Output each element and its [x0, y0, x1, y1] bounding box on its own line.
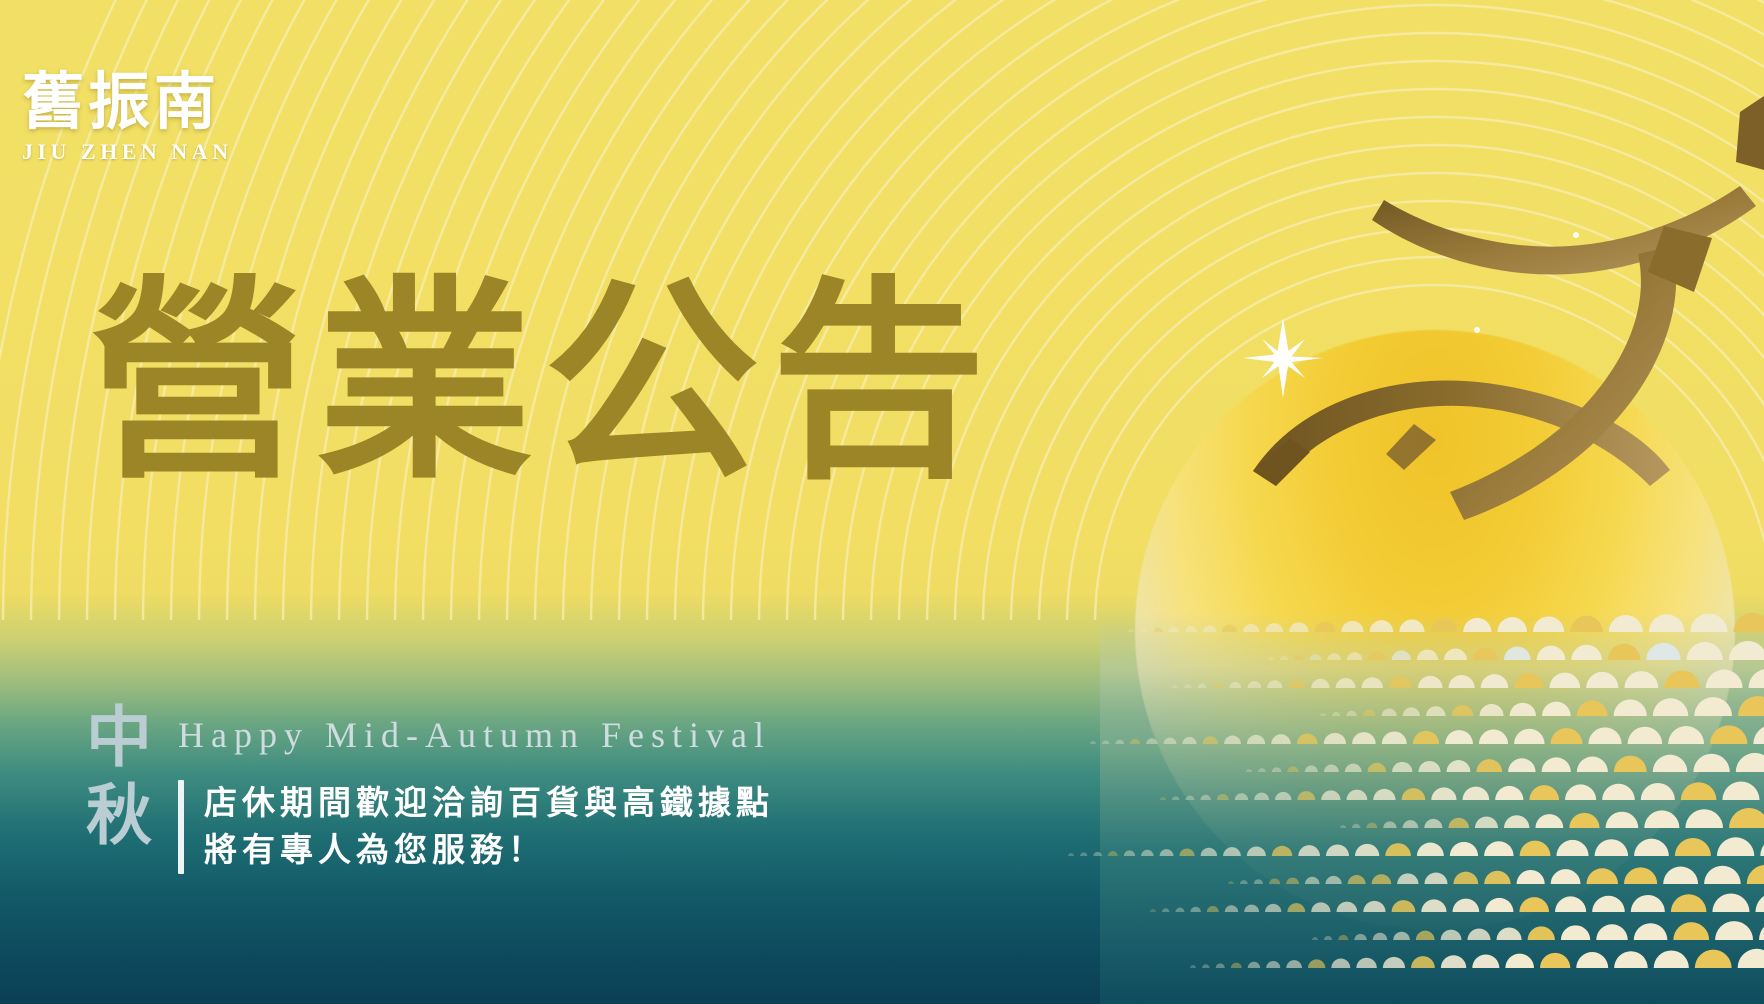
wave-dome: [1324, 936, 1332, 940]
wave-dome: [1542, 702, 1571, 716]
wave-dome: [1247, 681, 1261, 688]
wave-dome: [1715, 921, 1753, 940]
wave-dome: [1269, 878, 1280, 884]
wave-dome: [1231, 963, 1242, 968]
wave-dome: [1213, 683, 1224, 688]
notice-line-1: 店休期間歡迎洽詢百貨與高鐵據點: [204, 780, 774, 827]
wave-dome: [1312, 937, 1318, 940]
wave-dome: [1372, 874, 1392, 884]
wave-dome: [1729, 808, 1764, 828]
page-title: 營業公告: [90, 275, 998, 490]
wave-dome: [1258, 768, 1266, 772]
wave-dome: [1418, 676, 1443, 688]
wave-dome: [1305, 877, 1320, 884]
wave-dome: [1426, 706, 1446, 716]
wave-dome: [1331, 959, 1350, 968]
wave-dome: [1717, 837, 1754, 856]
wave-dome: [1588, 727, 1621, 744]
wave-dome: [1608, 644, 1640, 660]
wave-dome: [1668, 726, 1704, 744]
wave-dome: [1418, 761, 1440, 772]
wave-dome: [1413, 731, 1439, 744]
wave-dome: [1448, 818, 1469, 828]
wave-dome: [1203, 625, 1216, 632]
wave-dome: [1570, 616, 1603, 632]
wave-dome: [1540, 953, 1570, 968]
wave-dome: [1693, 754, 1729, 772]
wave-dome: [1247, 735, 1265, 744]
wave-dome: [1124, 850, 1135, 856]
wave-dome: [1224, 736, 1241, 744]
wave-dome: [1505, 954, 1534, 968]
wave-dome: [1577, 701, 1608, 716]
wave-dome: [1272, 767, 1282, 772]
wave-dome: [1370, 620, 1394, 632]
wave-dome: [1722, 781, 1759, 800]
wave-dome: [1347, 652, 1362, 660]
wave-dome: [1355, 844, 1379, 856]
wave-dome: [1352, 732, 1376, 744]
wave-dome: [1614, 699, 1647, 716]
wave-dome: [1472, 954, 1499, 968]
wave-dome: [1685, 809, 1723, 828]
wave-dome: [1393, 932, 1410, 940]
wave-dome: [1738, 696, 1764, 716]
wave-dome: [1341, 621, 1363, 632]
wave-dome: [1247, 846, 1266, 856]
wave-dome: [1160, 849, 1174, 856]
wave-dome: [1115, 740, 1124, 744]
wave-dome: [1644, 810, 1679, 828]
wave-dome: [1172, 796, 1179, 800]
wave-dome: [1326, 845, 1349, 857]
wave-dome: [1641, 783, 1675, 800]
wave-dome: [1402, 788, 1426, 800]
wave-dome: [1606, 812, 1639, 828]
wave-dome: [1602, 784, 1635, 800]
wave-dome: [1596, 924, 1628, 940]
wave-dome: [1403, 707, 1420, 716]
brand-logo: 舊振南 JIU ZHEN NAN: [22, 72, 262, 165]
wave-dome: [1646, 643, 1680, 660]
wave-dome: [1634, 839, 1669, 856]
wave-dome: [1254, 879, 1263, 884]
wave-dome: [1687, 642, 1723, 660]
wave-dome: [1203, 736, 1219, 744]
wave-dome: [1508, 758, 1535, 772]
wave-dome: [1288, 680, 1305, 688]
wave-dome: [1287, 766, 1298, 772]
wave-dome: [1392, 900, 1416, 912]
wave-dome: [1352, 824, 1360, 828]
wave-dome: [1736, 753, 1764, 772]
mid-autumn-char-2: 秋: [78, 778, 160, 856]
wave-dome: [1305, 765, 1318, 772]
wave-dome: [1345, 764, 1362, 772]
wave-dome: [1704, 866, 1741, 884]
wave-dome: [1080, 852, 1087, 856]
wave-dome: [1201, 848, 1217, 856]
wave-dome: [1569, 813, 1599, 828]
wave-dome: [1453, 899, 1480, 912]
wave-dome: [1160, 797, 1166, 800]
wave-dome: [1479, 704, 1503, 716]
wave-dome: [1311, 902, 1330, 912]
wave-dome: [1254, 793, 1269, 800]
wave-dome: [1347, 790, 1368, 800]
wave-dome: [1248, 962, 1260, 968]
wave-dome: [1108, 851, 1118, 856]
wave-dome: [1738, 949, 1764, 968]
wave-dome: [1403, 820, 1419, 828]
wave-dome: [1749, 669, 1764, 688]
wave-dome: [1346, 711, 1357, 716]
wave-dome: [1324, 733, 1346, 744]
wave-dome: [1321, 790, 1340, 800]
wave-dome: [1338, 935, 1348, 940]
wave-dome: [1308, 959, 1325, 968]
wave-dome: [1093, 852, 1102, 856]
wave-dome: [1504, 647, 1531, 660]
wave-dome: [1150, 909, 1156, 912]
wave-dome: [1441, 955, 1466, 968]
wave-dome: [1561, 925, 1590, 940]
wave-dome: [1179, 848, 1194, 856]
wave-dome: [1424, 819, 1442, 828]
wave-dome: [1555, 896, 1586, 912]
mid-autumn-char-1: 中: [78, 700, 160, 778]
wave-dome: [1399, 619, 1424, 632]
wave-dome: [1755, 893, 1764, 912]
wave-dome: [1320, 713, 1326, 716]
wave-dome: [1485, 898, 1513, 912]
wave-dome: [1368, 651, 1385, 660]
wave-dome: [1246, 769, 1252, 772]
wave-dome: [1207, 906, 1219, 912]
wave-dome: [1542, 757, 1571, 772]
wave-dome: [1706, 670, 1743, 688]
wave-dome: [1556, 840, 1588, 856]
wave-dome: [1327, 653, 1341, 660]
wave-dome: [1385, 843, 1411, 856]
wave-dome: [1383, 957, 1405, 968]
wave-dome: [1425, 873, 1448, 885]
wave-dome: [1476, 759, 1502, 772]
wave-dome: [1533, 616, 1564, 632]
wave-dome: [1417, 649, 1438, 660]
wave-dome: [1229, 682, 1241, 688]
wave-dome: [1431, 619, 1458, 632]
wave-dome: [1535, 814, 1563, 828]
wave-dome: [1609, 615, 1643, 632]
wave-dome: [1712, 893, 1749, 912]
notice-text: 店休期間歡迎洽詢百貨與高鐵據點 將有專人為您服務！: [204, 780, 774, 874]
wave-dome: [1753, 725, 1764, 744]
wave-dome: [1710, 725, 1747, 744]
wave-dome: [1504, 815, 1529, 828]
wave-dome: [1624, 867, 1657, 884]
mid-autumn-vertical-label: 中 秋: [78, 700, 160, 856]
wave-dome: [1326, 876, 1342, 884]
wave-dome: [1140, 628, 1147, 632]
wave-dome: [1449, 675, 1475, 688]
wave-dome: [1479, 729, 1508, 744]
wave-dome: [1733, 613, 1764, 632]
wave-dome: [1336, 678, 1356, 688]
wave-dome: [1510, 703, 1536, 716]
wave-dome: [1473, 648, 1498, 660]
wave-dome: [1297, 734, 1318, 744]
wave-dome: [1363, 901, 1385, 912]
notice-accent-bar: [178, 780, 184, 874]
wave-dome: [1392, 762, 1412, 772]
wave-dome: [1565, 784, 1596, 800]
wave-dome: [1366, 823, 1377, 828]
mid-autumn-announcement-banner: 舊振南 JIU ZHEN NAN 營業公告 中 秋 Happy Mid-Autu…: [0, 0, 1764, 1004]
wave-dome: [1520, 841, 1551, 856]
wave-dome: [1383, 821, 1396, 828]
wave-dome: [1382, 708, 1397, 716]
wave-dome: [1529, 785, 1559, 800]
wave-dome: [1514, 729, 1544, 744]
wave-dome: [1577, 757, 1608, 772]
wave-dome: [1068, 853, 1074, 856]
wave-dome: [1495, 786, 1523, 800]
wave-dome: [1235, 793, 1248, 800]
wave-dome: [1586, 672, 1618, 688]
wave-dome: [1514, 673, 1543, 688]
wave-dome: [1481, 674, 1509, 688]
wave-dome: [1298, 845, 1320, 856]
wave-dome: [1431, 787, 1456, 800]
wave-dome: [1690, 613, 1727, 632]
wave-dome: [1528, 926, 1555, 940]
wave-dome: [1663, 867, 1698, 884]
wave-dome: [1182, 737, 1196, 744]
wave-dome: [1571, 645, 1602, 660]
wave-dome: [1537, 646, 1566, 660]
wave-dome: [1450, 842, 1478, 856]
wave-dome: [1411, 956, 1435, 968]
wave-dome: [1664, 670, 1699, 688]
wave-dome: [1190, 965, 1196, 968]
wave-dome: [1694, 697, 1732, 716]
wave-dome: [1373, 933, 1388, 940]
wave-dome: [1363, 710, 1376, 716]
wave-dome: [1614, 756, 1647, 772]
wave-dome: [1551, 728, 1583, 744]
wave-dome: [1332, 712, 1340, 716]
wave-dome: [1198, 683, 1207, 688]
wave-dome: [1102, 740, 1109, 744]
wave-dome: [1315, 622, 1336, 632]
wave-dome: [1141, 850, 1154, 856]
wave-dome: [1265, 904, 1281, 912]
wave-dome: [1463, 787, 1490, 800]
wave-dome: [1153, 628, 1162, 632]
wave-dome: [1549, 673, 1580, 688]
wave-dome: [1090, 741, 1096, 744]
wave-dome: [1675, 838, 1711, 856]
wave-dome: [1265, 623, 1283, 632]
wave-dome: [1271, 734, 1291, 744]
wave-dome: [1228, 881, 1234, 884]
wave-dome: [1286, 960, 1302, 968]
wave-dome: [1576, 952, 1608, 968]
wave-dome: [1389, 677, 1412, 689]
wave-dome: [1475, 817, 1498, 829]
wave-dome: [1631, 895, 1665, 912]
wave-dome: [1587, 868, 1619, 884]
wave-dome: [1164, 738, 1177, 744]
wave-dome: [1649, 614, 1685, 632]
wave-dome: [1681, 782, 1717, 800]
wave-dome: [1356, 958, 1377, 968]
footer-text-group: Happy Mid-Autumn Festival 店休期間歡迎洽詢百貨與高鐵據…: [178, 692, 774, 874]
wave-dome: [1444, 649, 1467, 661]
wave-dome: [1244, 905, 1259, 912]
wave-dome: [1128, 629, 1134, 632]
wave-dome: [1216, 963, 1225, 968]
wave-dome: [1760, 837, 1764, 856]
wave-dome: [1397, 873, 1418, 884]
wave-dome: [1497, 927, 1522, 940]
wave-dome: [1175, 908, 1184, 912]
wave-dome: [1184, 684, 1192, 688]
wave-dome: [1266, 961, 1280, 968]
wave-dome: [1289, 622, 1308, 632]
wave-dome: [1268, 657, 1274, 660]
wave-dome: [1294, 655, 1304, 660]
wave-dome: [1373, 789, 1395, 800]
wave-dome: [1747, 865, 1764, 884]
wave-dome: [1382, 731, 1407, 744]
wave-dome: [1445, 730, 1473, 744]
wave-dome: [1634, 923, 1668, 940]
wave-dome: [1324, 765, 1339, 772]
wave-dome: [1200, 795, 1210, 800]
wave-dome: [1275, 792, 1291, 800]
english-greeting: Happy Mid-Autumn Festival: [178, 714, 774, 756]
wave-dome: [1653, 755, 1688, 772]
wave-dome: [1240, 880, 1248, 884]
wave-dome: [1280, 656, 1288, 660]
wave-dome: [1146, 738, 1157, 744]
wave-dome: [1484, 871, 1510, 884]
wave-dome: [1272, 846, 1292, 856]
wave-dome: [1468, 929, 1491, 941]
wave-dome: [1551, 869, 1581, 884]
wave-dome: [1362, 677, 1383, 688]
wave-dome: [1463, 618, 1491, 632]
wave-dome: [1517, 870, 1545, 884]
wave-dome: [1416, 931, 1435, 940]
wave-dome: [1452, 705, 1474, 716]
wave-dome: [1695, 950, 1732, 968]
wave-dome: [1519, 897, 1549, 912]
wave-dome: [1392, 650, 1411, 660]
wave-dome: [1130, 739, 1140, 744]
wave-dome: [1624, 671, 1658, 688]
wave-dome: [1243, 624, 1259, 632]
wave-dome: [1354, 934, 1366, 940]
wave-dome: [1348, 875, 1366, 884]
wave-dome: [1441, 930, 1462, 940]
wave-dome: [1225, 905, 1238, 912]
wave-dome: [1172, 685, 1178, 688]
wave-dome: [1185, 626, 1197, 632]
wave-dome: [1202, 964, 1210, 968]
wave-dome: [1223, 847, 1241, 856]
wave-dome: [1654, 950, 1689, 968]
wave-dome: [1417, 843, 1444, 856]
wave-dome: [1592, 896, 1625, 912]
wave-dome: [1595, 839, 1628, 856]
wave-dome: [1421, 899, 1446, 912]
notice-block: 店休期間歡迎洽詢百貨與高鐵據點 將有專人為您服務！: [178, 780, 774, 874]
wave-dome: [1673, 922, 1709, 940]
wave-dome: [1185, 796, 1194, 800]
footer-block: 中 秋 Happy Mid-Autumn Festival 店休期間歡迎洽詢百貨…: [78, 692, 774, 874]
wave-dome: [1484, 841, 1514, 856]
wave-dome: [1759, 920, 1764, 940]
wave-dome: [1454, 872, 1479, 884]
wave-dome: [1671, 894, 1707, 912]
notice-line-2: 將有專人為您服務！: [204, 827, 774, 874]
wave-dome: [1340, 825, 1346, 828]
wave-dome: [1311, 679, 1329, 688]
wave-dome: [1222, 625, 1237, 632]
wave-dome: [1168, 627, 1178, 632]
wave-dome: [1287, 903, 1305, 912]
wave-dome: [1653, 698, 1688, 716]
brand-name-en: JIU ZHEN NAN: [22, 139, 262, 165]
wave-dome: [1368, 763, 1387, 772]
wave-dome: [1337, 902, 1358, 912]
wave-dome: [1310, 654, 1322, 660]
wave-dome: [1729, 641, 1764, 660]
wave-dome: [1497, 617, 1527, 632]
wave-dome: [1447, 760, 1471, 772]
wave-dome: [1162, 908, 1169, 912]
wave-dome: [1614, 951, 1648, 968]
wave-dome: [1267, 680, 1282, 688]
brand-name-cn: 舊振南: [22, 72, 262, 135]
wave-dome: [1297, 791, 1315, 800]
wave-dome: [1628, 727, 1663, 744]
wave-dome: [1190, 907, 1200, 912]
wave-dome: [1217, 794, 1229, 800]
wave-dome: [1286, 878, 1299, 884]
